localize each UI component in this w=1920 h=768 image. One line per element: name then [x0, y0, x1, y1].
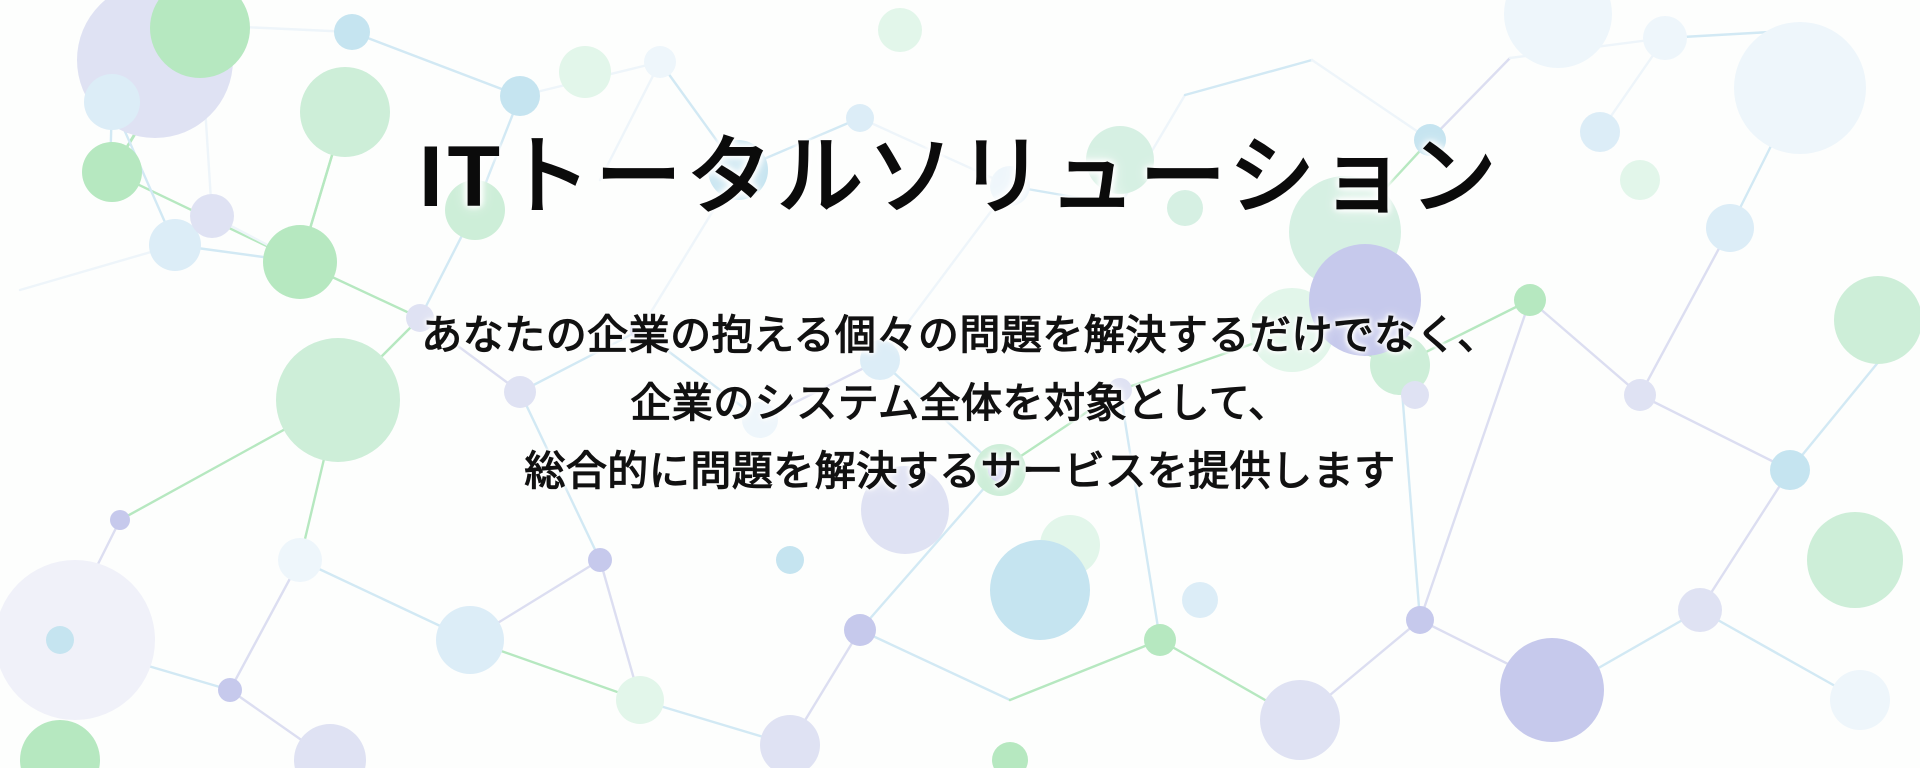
hero-banner: .lnk-g { stroke:#b6e8c0; fill:none; } .l…: [0, 0, 1920, 768]
hero-subtitle: あなたの企業の抱える個々の問題を解決するだけでなく、 企業のシステム全体を対象と…: [421, 310, 1499, 496]
hero-subtitle-line-2: 企業のシステム全体を対象として、: [421, 378, 1499, 428]
hero-subtitle-line-3: 総合的に問題を解決するサービスを提供します: [421, 446, 1499, 496]
page-title: ITトータルソリューション: [419, 132, 1501, 222]
hero-subtitle-line-1: あなたの企業の抱える個々の問題を解決するだけでなく、: [421, 310, 1499, 360]
hero-content: ITトータルソリューション あなたの企業の抱える個々の問題を解決するだけでなく、…: [0, 0, 1920, 768]
